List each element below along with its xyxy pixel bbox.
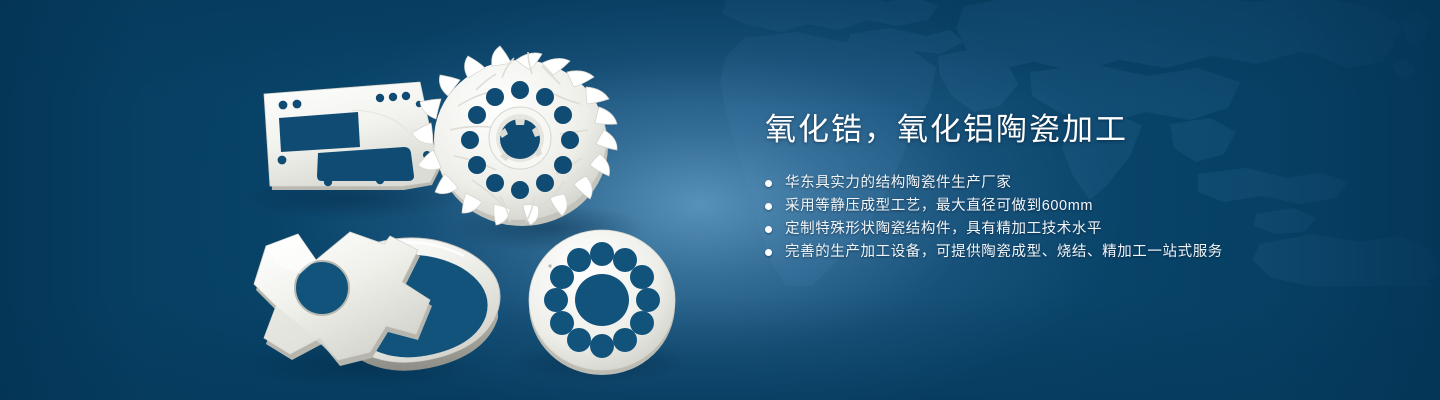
list-item: 定制特殊形状陶瓷结构件，具有精加工技术水平 <box>765 218 1385 240</box>
bullet-dot-icon <box>765 226 772 233</box>
list-item: 采用等静压成型工艺，最大直径可做到600mm <box>765 195 1385 217</box>
feature-text: 定制特殊形状陶瓷结构件，具有精加工技术水平 <box>785 218 1102 240</box>
feature-text: 完善的生产加工设备，可提供陶瓷成型、烧结、精加工一站式服务 <box>785 241 1223 263</box>
feature-text: 华东具实力的结构陶瓷件生产厂家 <box>785 172 1012 194</box>
list-item: 完善的生产加工设备，可提供陶瓷成型、烧结、精加工一站式服务 <box>765 241 1385 263</box>
ceramic-perforated-disc-part <box>529 230 675 375</box>
feature-list: 华东具实力的结构陶瓷件生产厂家 采用等静压成型工艺，最大直径可做到600mm 定… <box>765 172 1385 263</box>
banner-copy: 氧化锆，氧化铝陶瓷加工 华东具实力的结构陶瓷件生产厂家 采用等静压成型工艺，最大… <box>765 110 1385 264</box>
feature-text: 采用等静压成型工艺，最大直径可做到600mm <box>785 195 1093 217</box>
banner-headline: 氧化锆，氧化铝陶瓷加工 <box>765 110 1385 150</box>
list-item: 华东具实力的结构陶瓷件生产厂家 <box>765 172 1385 194</box>
product-banner: 氧化锆，氧化铝陶瓷加工 华东具实力的结构陶瓷件生产厂家 采用等静压成型工艺，最大… <box>0 0 1440 400</box>
ceramic-parts-photo <box>0 0 720 400</box>
bullet-dot-icon <box>765 203 772 210</box>
bullet-dot-icon <box>765 249 772 256</box>
bullet-dot-icon <box>765 180 772 187</box>
